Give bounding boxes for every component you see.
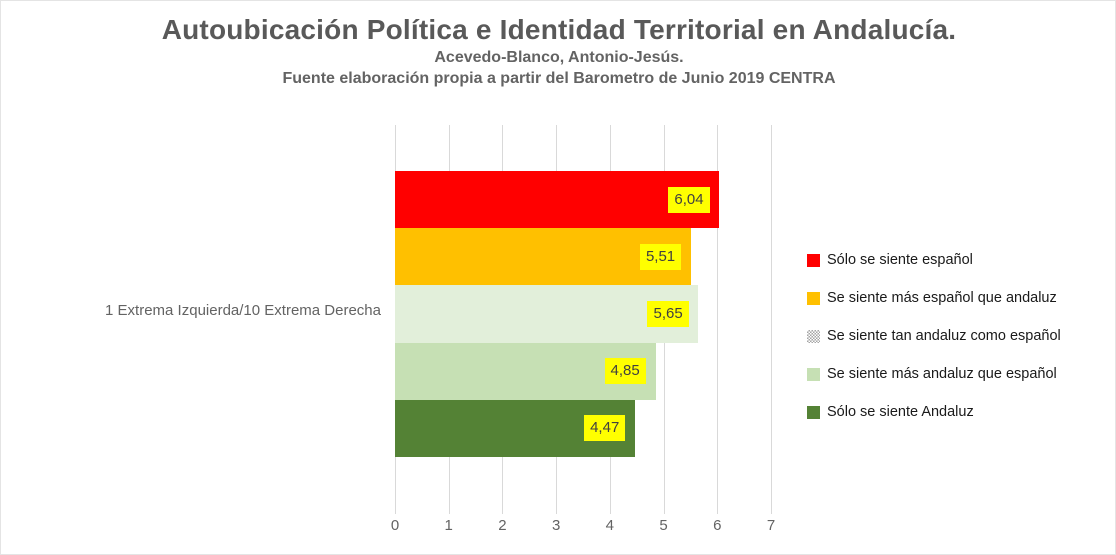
bar-value-label: 5,65 bbox=[647, 301, 688, 327]
legend-item-2[interactable]: Se siente más español que andaluz bbox=[807, 279, 1107, 317]
legend-swatch-icon bbox=[807, 292, 820, 305]
legend-swatch-icon bbox=[807, 330, 820, 343]
legend: Sólo se siente españolSe siente más espa… bbox=[807, 241, 1107, 431]
bar-value-label: 6,04 bbox=[668, 187, 709, 213]
plot-area: 6,045,515,654,854,47 bbox=[395, 125, 771, 506]
bar-value-label: 4,85 bbox=[605, 358, 646, 384]
legend-item-3[interactable]: Se siente tan andaluz como español bbox=[807, 317, 1107, 355]
tick-mark bbox=[610, 506, 611, 514]
tick-mark bbox=[502, 506, 503, 514]
x-axis-tick-label: 2 bbox=[487, 517, 517, 534]
x-axis-tick-label: 3 bbox=[541, 517, 571, 534]
category-axis-label: 1 Extrema Izquierda/10 Extrema Derecha bbox=[61, 302, 381, 319]
chart-subtitle-source: Fuente elaboración propia a partir del B… bbox=[1, 68, 1116, 89]
legend-swatch-icon bbox=[807, 254, 820, 267]
bar-row: 5,51 bbox=[395, 228, 771, 285]
chart-title: Autoubicación Política e Identidad Terri… bbox=[1, 13, 1116, 47]
bar-value-label: 5,51 bbox=[640, 244, 681, 270]
bar-value-label: 4,47 bbox=[584, 415, 625, 441]
tick-mark bbox=[449, 506, 450, 514]
bar-row: 4,47 bbox=[395, 400, 771, 457]
x-axis-tick-label: 0 bbox=[380, 517, 410, 534]
legend-label: Sólo se siente Andaluz bbox=[827, 404, 974, 420]
tick-mark bbox=[664, 506, 665, 514]
legend-item-4[interactable]: Se siente más andaluz que español bbox=[807, 355, 1107, 393]
legend-label: Se siente más español que andaluz bbox=[827, 290, 1057, 306]
x-axis-tick-label: 1 bbox=[434, 517, 464, 534]
tick-mark bbox=[717, 506, 718, 514]
chart-container: Autoubicación Política e Identidad Terri… bbox=[0, 0, 1116, 555]
bar-row: 4,85 bbox=[395, 343, 771, 400]
x-axis-labels: 01234567 bbox=[395, 517, 771, 539]
title-block: Autoubicación Política e Identidad Terri… bbox=[1, 13, 1116, 89]
legend-item-5[interactable]: Sólo se siente Andaluz bbox=[807, 393, 1107, 431]
tick-mark bbox=[771, 506, 772, 514]
legend-swatch-icon bbox=[807, 406, 820, 419]
x-axis-tick-label: 6 bbox=[702, 517, 732, 534]
x-axis-ticks bbox=[395, 506, 771, 516]
x-axis-tick-label: 7 bbox=[756, 517, 786, 534]
tick-mark bbox=[556, 506, 557, 514]
tick-mark bbox=[395, 506, 396, 514]
chart-subtitle-author: Acevedo-Blanco, Antonio-Jesús. bbox=[1, 47, 1116, 68]
bars-layer: 6,045,515,654,854,47 bbox=[395, 171, 771, 457]
legend-label: Sólo se siente español bbox=[827, 252, 973, 268]
legend-label: Se siente tan andaluz como español bbox=[827, 328, 1061, 344]
bar-row: 5,65 bbox=[395, 285, 771, 342]
bar-row: 6,04 bbox=[395, 171, 771, 228]
x-axis-tick-label: 5 bbox=[649, 517, 679, 534]
legend-item-1[interactable]: Sólo se siente español bbox=[807, 241, 1107, 279]
legend-label: Se siente más andaluz que español bbox=[827, 366, 1057, 382]
legend-swatch-icon bbox=[807, 368, 820, 381]
x-axis-tick-label: 4 bbox=[595, 517, 625, 534]
gridline bbox=[771, 125, 772, 506]
